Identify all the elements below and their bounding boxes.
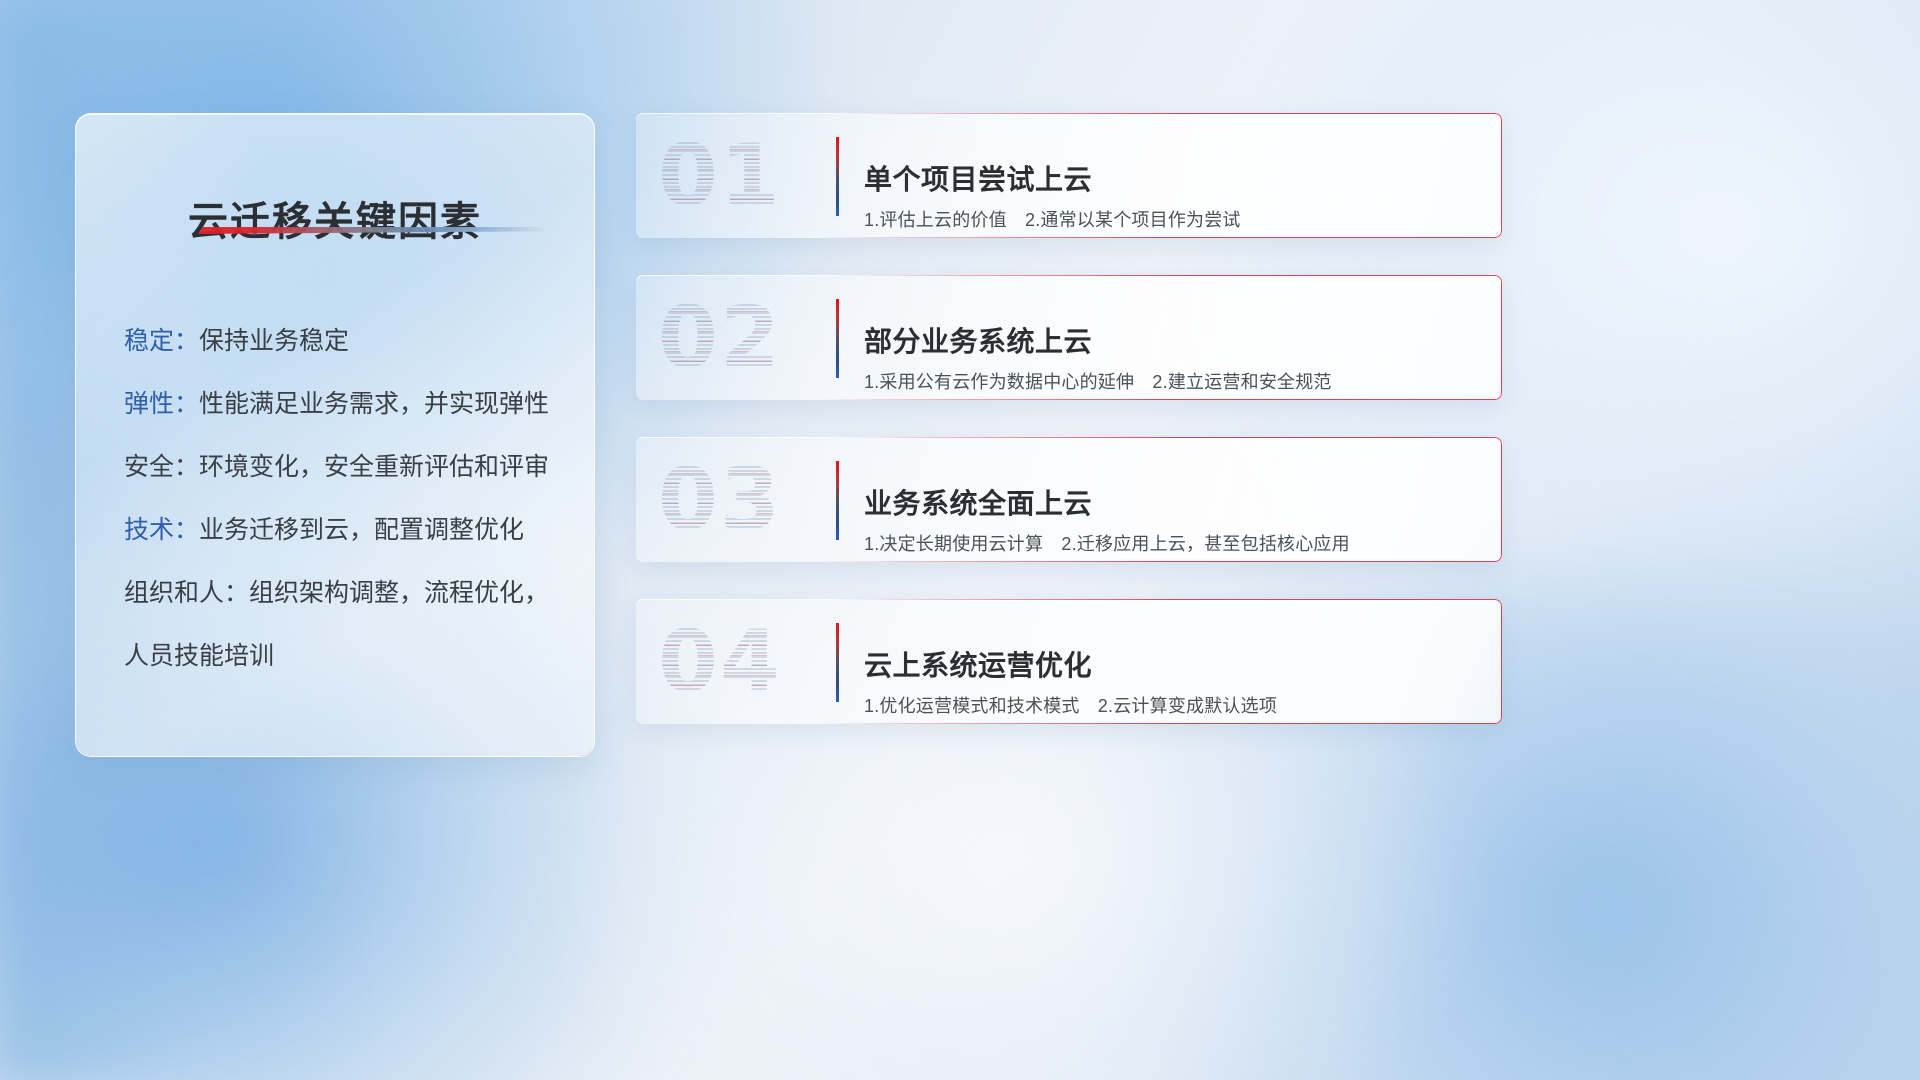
stage-card[interactable]: 0101单个项目尝试上云1.评估上云的价值 2.通常以某个项目作为尝试 [636,113,1502,238]
key-factor-row: 人员技能培训 [124,625,566,688]
key-factor-label: 弹性： [124,390,199,418]
key-factor-label: 安全： [124,453,199,481]
cloud-migration-stage-cards: 0101单个项目尝试上云1.评估上云的价值 2.通常以某个项目作为尝试0202部… [636,113,1502,761]
key-factors-list: 稳定：保持业务稳定弹性：性能满足业务需求，并实现弹性安全：环境变化，安全重新评估… [124,310,566,688]
stage-number-accent-stripes: 03 [658,454,830,546]
key-factor-value: 性能满足业务需求，并实现弹性 [199,390,549,418]
key-factor-row: 技术：业务迁移到云，配置调整优化 [124,499,566,562]
key-factor-value: 保持业务稳定 [199,327,349,355]
stage-divider-bar [836,461,839,540]
stage-description: 1.采用公有云作为数据中心的延伸 2.建立运营和安全规范 [864,368,1332,394]
stage-divider-bar [836,299,839,378]
stage-divider-bar [836,623,839,702]
key-factor-row: 弹性：性能满足业务需求，并实现弹性 [124,373,566,436]
key-factor-row: 组织和人：组织架构调整，流程优化， [124,562,566,625]
key-factor-row: 稳定：保持业务稳定 [124,310,566,373]
panel-title: 云迁移关键因素 [76,189,594,247]
stage-description: 1.评估上云的价值 2.通常以某个项目作为尝试 [864,206,1241,232]
key-factor-value: 业务迁移到云，配置调整优化 [199,516,524,544]
stage-title: 业务系统全面上云 [864,482,1092,522]
stage-divider-bar [836,137,839,216]
stage-card[interactable]: 0303业务系统全面上云1.决定长期使用云计算 2.迁移应用上云，甚至包括核心应… [636,437,1502,562]
stage-number-accent-stripes: 02 [658,292,830,384]
key-factor-value: 人员技能培训 [124,642,274,670]
stage-number-accent-stripes: 01 [658,130,830,222]
stage-title: 云上系统运营优化 [864,644,1092,684]
stage-number-accent-stripes: 04 [658,616,830,708]
key-factor-label: 稳定： [124,327,199,355]
stage-card[interactable]: 0202部分业务系统上云1.采用公有云作为数据中心的延伸 2.建立运营和安全规范 [636,275,1502,400]
key-factor-label: 组织和人： [124,579,249,607]
stage-description: 1.决定长期使用云计算 2.迁移应用上云，甚至包括核心应用 [864,530,1350,556]
key-factor-value: 组织架构调整，流程优化， [249,579,549,607]
key-factor-value: 环境变化，安全重新评估和评审 [199,453,549,481]
key-factor-row: 安全：环境变化，安全重新评估和评审 [124,436,566,499]
stage-description: 1.优化运营模式和技术模式 2.云计算变成默认选项 [864,692,1277,718]
key-factors-panel: 云迁移关键因素 稳定：保持业务稳定弹性：性能满足业务需求，并实现弹性安全：环境变… [75,113,595,757]
stage-title: 部分业务系统上云 [864,320,1092,360]
stage-title: 单个项目尝试上云 [864,158,1092,198]
stage-card[interactable]: 0404云上系统运营优化1.优化运营模式和技术模式 2.云计算变成默认选项 [636,599,1502,724]
key-factor-label: 技术： [124,516,199,544]
